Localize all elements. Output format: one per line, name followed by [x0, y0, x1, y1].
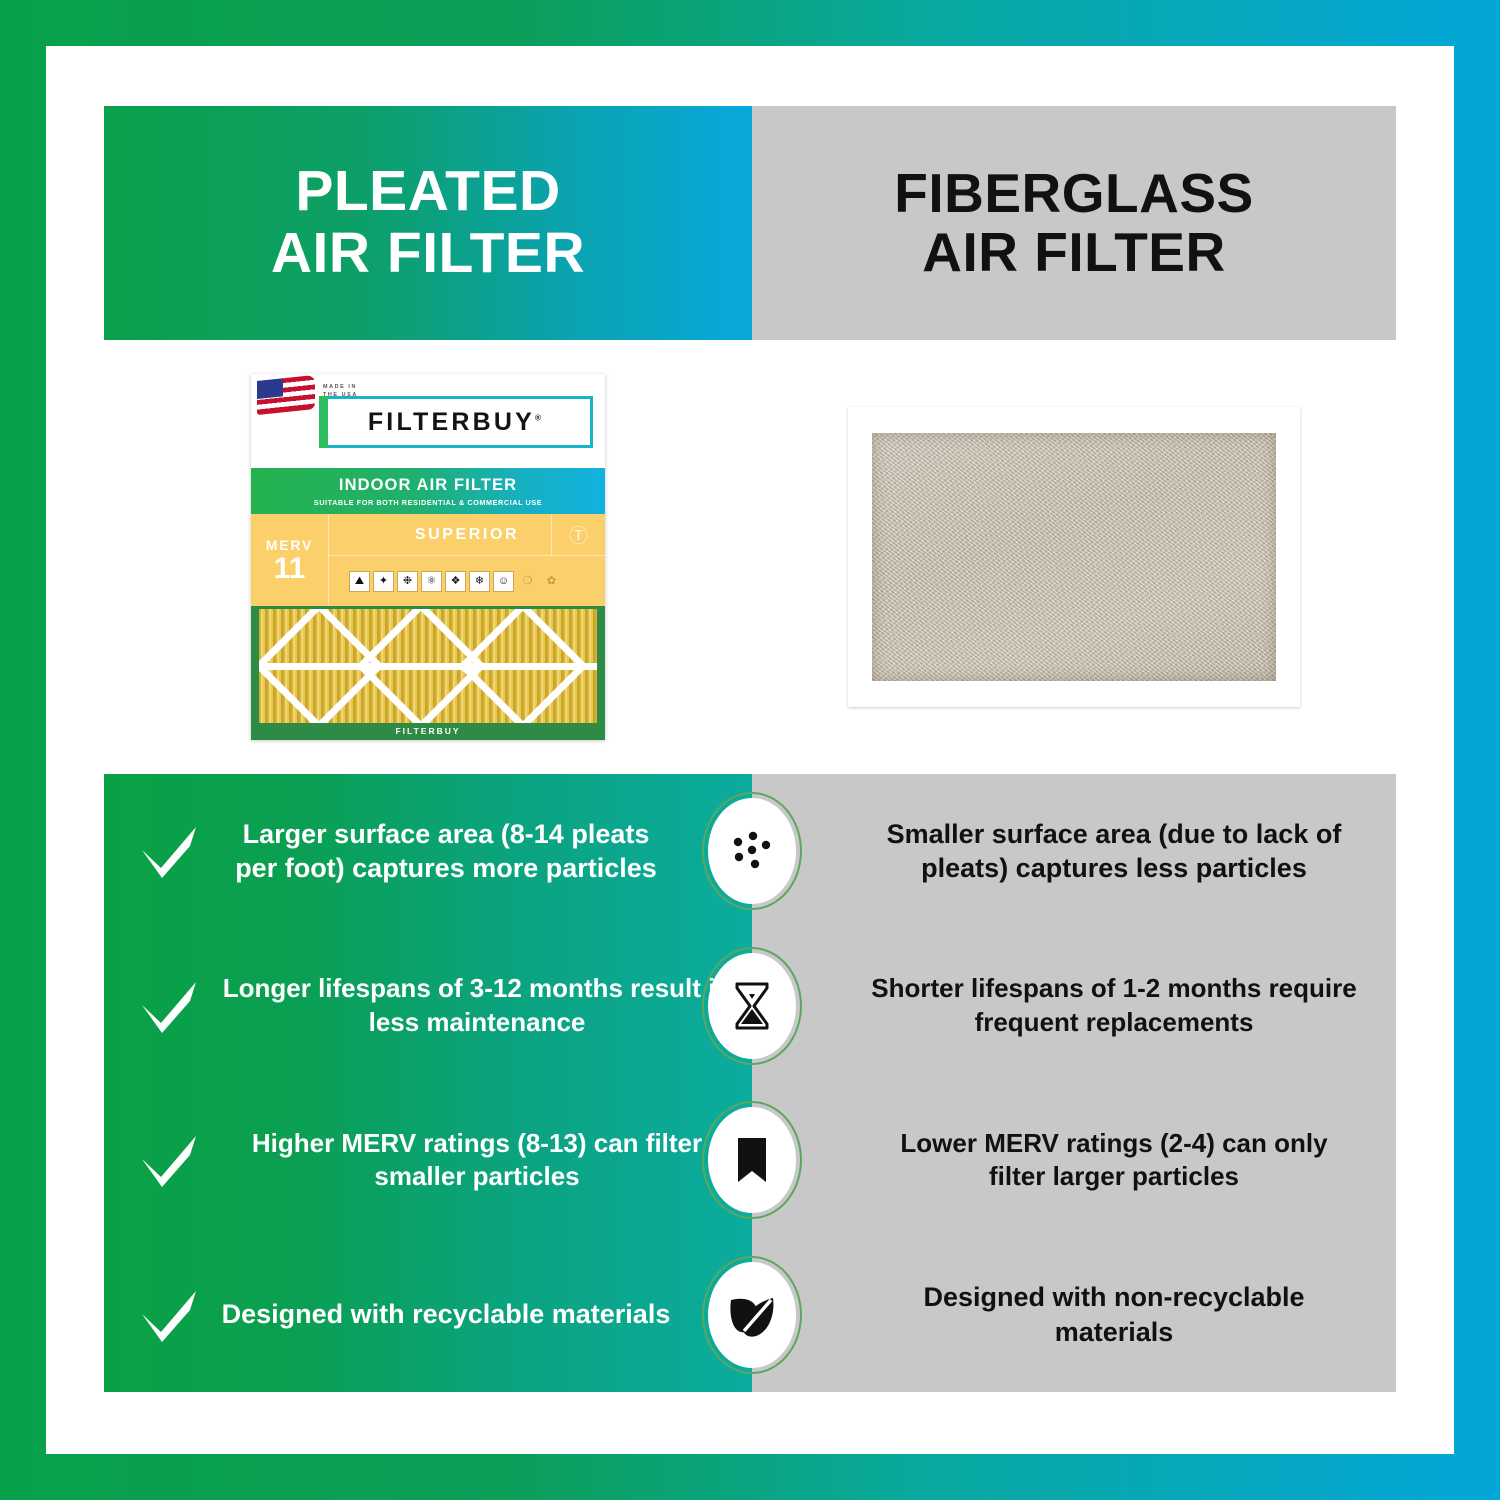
- row-fiberglass-side: Shorter lifespans of 1-2 months require …: [752, 929, 1396, 1084]
- merv-band: MERV 11 SUPERIOR Ⓣ ⛰ ✦ ❉ ⚛ ❖: [251, 514, 605, 606]
- row-fiberglass-side: Smaller surface area (due to lack of ple…: [752, 774, 1396, 929]
- badge-ring: [702, 1101, 802, 1219]
- row-fiberglass-side: Designed with non-recyclable materials: [752, 1238, 1396, 1393]
- merv-detail: SUPERIOR Ⓣ ⛰ ✦ ❉ ⚛ ❖ ❄ ☺ ❍ ✿: [329, 514, 605, 606]
- header-pleated-title: PLEATEDAIR FILTER: [271, 161, 585, 284]
- bacteria-icon: ❖: [445, 571, 466, 592]
- fiberglass-filter-product: [848, 407, 1300, 707]
- brand-logo-box: FILTERBUY®: [319, 396, 593, 448]
- row-fiberglass-text: Designed with non-recyclable materials: [870, 1280, 1358, 1349]
- tier-row: SUPERIOR Ⓣ: [329, 514, 605, 556]
- smoke-icon: ☺: [493, 571, 514, 592]
- row-pleated-text: Longer lifespans of 3-12 months result i…: [220, 972, 752, 1039]
- merv-badge: MERV 11: [251, 514, 329, 606]
- virus-icon: ❍: [517, 571, 538, 592]
- hourglass-icon: [702, 947, 802, 1065]
- pleat-texture: [259, 609, 597, 723]
- header-fiberglass: FIBERGLASSAIR FILTER: [752, 106, 1396, 340]
- pleated-media-area: FILTERBUY: [251, 606, 605, 740]
- fiberglass-media: [872, 433, 1276, 681]
- row-fiberglass-text: Smaller surface area (due to lack of ple…: [870, 817, 1358, 886]
- infographic-card: PLEATEDAIR FILTER FIBERGLASSAIR FILTER M…: [46, 46, 1454, 1454]
- merv-value: 11: [274, 554, 306, 584]
- row-fiberglass-text: Lower MERV ratings (2-4) can only filter…: [870, 1127, 1358, 1194]
- header-row: PLEATEDAIR FILTER FIBERGLASSAIR FILTER: [104, 106, 1396, 340]
- badge-ring: [702, 792, 802, 910]
- check-icon: [134, 971, 204, 1041]
- check-icon: [134, 1280, 204, 1350]
- row-pleated-text: Designed with recyclable materials: [220, 1297, 752, 1332]
- tier-label: SUPERIOR: [415, 526, 519, 544]
- header-fiberglass-line1: FIBERGLASS: [894, 162, 1253, 224]
- band-title: INDOOR AIR FILTER: [339, 476, 517, 495]
- feature-icons-row: ⛰ ✦ ❉ ⚛ ❖ ❄ ☺ ❍ ✿: [329, 556, 605, 606]
- brand-trademark: ®: [535, 413, 544, 422]
- comparison-row: Longer lifespans of 3-12 months result i…: [104, 929, 1396, 1084]
- pleated-label-top: MADE IN THE USA FILTERBUY®: [251, 374, 605, 468]
- mold-icon: ⚛: [421, 571, 442, 592]
- row-pleated-side: Longer lifespans of 3-12 months result i…: [104, 929, 752, 1084]
- made-in-line1: MADE IN: [323, 383, 358, 391]
- check-icon: [134, 816, 204, 886]
- pleated-image-cell: MADE IN THE USA FILTERBUY® INDOOR AIR FI…: [104, 340, 752, 774]
- brand-name: FILTERBUY: [368, 408, 535, 436]
- product-images-row: MADE IN THE USA FILTERBUY® INDOOR AIR FI…: [104, 340, 1396, 774]
- header-pleated: PLEATEDAIR FILTER: [104, 106, 752, 340]
- badge-ring: [702, 947, 802, 1065]
- comparison-section: Larger surface area (8-14 pleats per foo…: [104, 774, 1396, 1392]
- footer-brand: FILTERBUY: [251, 723, 605, 738]
- particles-icon: [702, 792, 802, 910]
- row-pleated-text: Higher MERV ratings (8-13) can filter sm…: [220, 1127, 752, 1194]
- usa-flag-icon: [257, 375, 315, 415]
- dust-icon: ⛰: [349, 571, 370, 592]
- row-pleated-text: Larger surface area (8-14 pleats per foo…: [220, 817, 752, 886]
- bookmark-icon: [702, 1101, 802, 1219]
- comparison-row: Larger surface area (8-14 pleats per foo…: [104, 774, 1396, 929]
- row-fiberglass-text: Shorter lifespans of 1-2 months require …: [870, 972, 1358, 1039]
- row-pleated-side: Larger surface area (8-14 pleats per foo…: [104, 774, 752, 929]
- pollen-icon: ❉: [397, 571, 418, 592]
- row-pleated-side: Designed with recyclable materials: [104, 1238, 752, 1393]
- ul-certification-icon: Ⓣ: [551, 514, 605, 555]
- support-diamond: [458, 609, 588, 723]
- pleated-filter-product: MADE IN THE USA FILTERBUY® INDOOR AIR FI…: [251, 374, 605, 740]
- check-icon: [134, 1125, 204, 1195]
- fiberglass-image-cell: [752, 340, 1396, 774]
- row-pleated-side: Higher MERV ratings (8-13) can filter sm…: [104, 1083, 752, 1238]
- row-fiberglass-side: Lower MERV ratings (2-4) can only filter…: [752, 1083, 1396, 1238]
- odor-icon: ✿: [541, 571, 562, 592]
- comparison-row: Higher MERV ratings (8-13) can filter sm…: [104, 1083, 1396, 1238]
- comparison-row: Designed with recyclable materials Desig…: [104, 1238, 1396, 1393]
- brand-logo-text: FILTERBUY®: [368, 408, 544, 437]
- mite-icon: ✦: [373, 571, 394, 592]
- merv-label: MERV: [266, 537, 313, 553]
- indoor-air-filter-band: INDOOR AIR FILTER SUITABLE FOR BOTH RESI…: [251, 468, 605, 514]
- header-pleated-line2: AIR FILTER: [271, 221, 585, 285]
- band-subtitle: SUITABLE FOR BOTH RESIDENTIAL & COMMERCI…: [314, 498, 542, 507]
- header-fiberglass-line2: AIR FILTER: [922, 221, 1225, 283]
- badge-ring: [702, 1256, 802, 1374]
- leaf-icon: [702, 1256, 802, 1374]
- pet-dander-icon: ❄: [469, 571, 490, 592]
- header-fiberglass-title: FIBERGLASSAIR FILTER: [894, 164, 1253, 283]
- header-pleated-line1: PLEATED: [295, 159, 560, 223]
